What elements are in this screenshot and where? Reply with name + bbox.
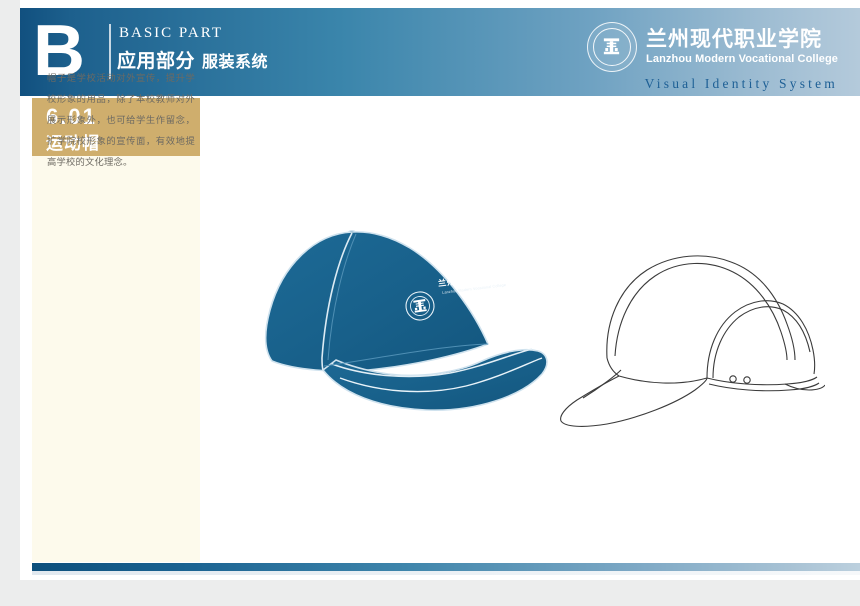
lineart-brim-front-edge [583, 370, 621, 398]
illustration-stage: 兰州现代职业学院 Lanzhou Modern Vocational Colle… [200, 98, 860, 562]
cap-crown [266, 232, 488, 371]
school-seal-icon [587, 22, 637, 72]
lineart-strap-tail [785, 384, 825, 390]
school-brand: 兰州现代职业学院 Lanzhou Modern Vocational Colle… [587, 22, 838, 72]
sports-cap-color-render [260, 218, 560, 418]
lineart-crown-top [607, 256, 795, 360]
lineart-brim-outline [561, 376, 707, 426]
lineart-brim-top-seam [619, 376, 707, 383]
brand-text-block: 兰州现代职业学院 Lanzhou Modern Vocational Colle… [646, 29, 838, 65]
section-description: 帽子是学校活动对外宣传，提升学校形象的用品，除了本校教师对外展示形象外，也可给学… [47, 68, 195, 173]
brand-name-en: Lanzhou Modern Vocational College [646, 54, 838, 65]
footer-accent-bar-shadow [32, 571, 860, 575]
sports-cap-line-drawing [555, 238, 825, 428]
seal-emblem-icon [601, 36, 622, 57]
lineart-crown-seam [615, 263, 787, 360]
lineart-back-arc-outer [707, 301, 815, 378]
lineart-eyelet-2 [744, 377, 750, 383]
lineart-eyelet-1 [730, 376, 736, 382]
lineart-back-arc-inner [713, 307, 810, 378]
footer-accent-bar [32, 563, 860, 571]
vi-system-tagline: Visual Identity System [645, 76, 838, 92]
header-english-title: BASIC PART [119, 25, 223, 42]
lineart-strap-top [707, 377, 817, 385]
brand-name-cn: 兰州现代职业学院 [646, 29, 838, 50]
vi-manual-page: B BASIC PART 应用部分服装系统 兰州现代职业学院 [20, 0, 860, 580]
header-chinese-sub: 服装系统 [202, 54, 268, 71]
